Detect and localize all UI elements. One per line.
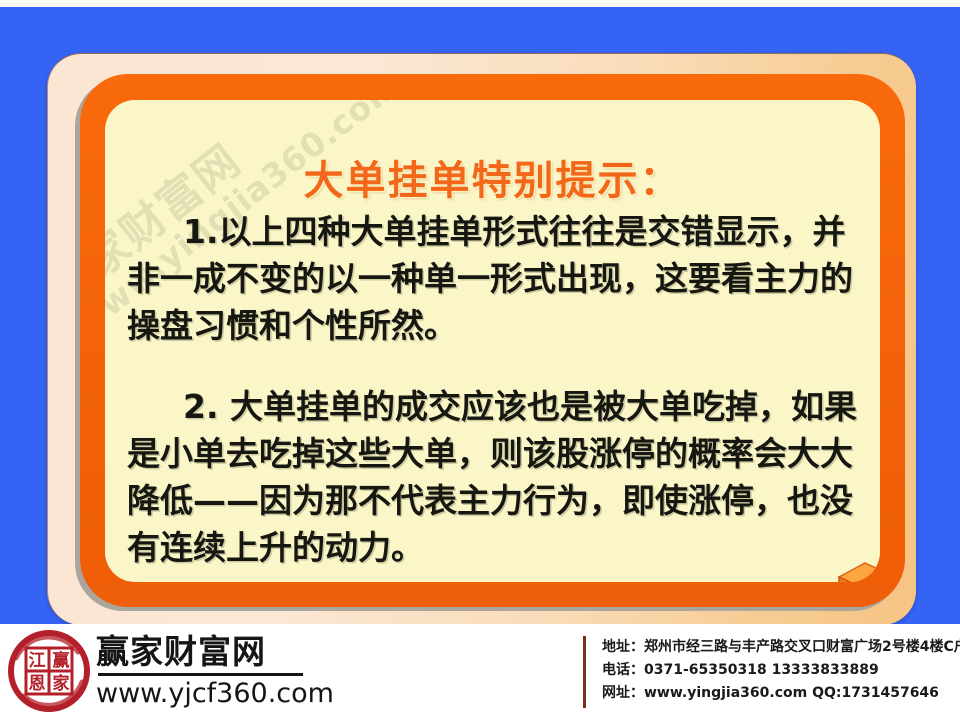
contact-web-value: www.yingjia360.com QQ:1731457646 [644,685,939,701]
brand-block[interactable]: 赢家财富网 www.yjcf360.com [96,632,396,710]
seal-char-3: 恩 [29,674,46,694]
seal-char-1: 江 [29,651,46,671]
page-title: 大单挂单特别提示： [105,148,880,206]
footer-bar: 江 赢 恩 家 赢家财富网 www.yjcf360.com 地址：郑州市经三路与… [0,624,960,720]
footer-vertical-divider [583,636,586,708]
paragraph-1: 1.以上四种大单挂单形式往往是交错显示，并非一成不变的以一种单一形式出现，这要看… [127,208,867,349]
contact-address-line: 地址：郑州市经三路与丰产路交叉口财富广场2号楼4楼C户 [602,636,954,659]
brand-divider-rule [98,673,303,676]
book-globe-icon [821,555,880,582]
contact-block: 地址：郑州市经三路与丰产路交叉口财富广场2号楼4楼C户 电话：0371-6535… [602,636,954,705]
contact-web-label: 网址： [602,685,644,701]
brand-url[interactable]: www.yjcf360.com [96,678,396,710]
content-panel: 赢家财富网 www.yingjia360.com QQ:1731457646 大… [105,100,880,582]
contact-phone-line: 电话：0371-65350318 13333833889 [602,659,954,682]
top-white-strip [0,0,960,7]
contact-address-label: 地址： [602,639,644,655]
seal-char-4: 家 [53,673,70,694]
contact-phone-value: 0371-65350318 13333833889 [644,662,879,678]
paragraph-2: 2. 大单挂单的成交应该也是被大单吃掉，如果是小单去吃掉这些大单，则该股涨停的概… [127,383,867,571]
brand-seal-icon: 江 赢 恩 家 [6,628,92,714]
brand-name: 赢家财富网 [96,632,396,672]
contact-web-line: 网址：www.yingjia360.com QQ:1731457646 [602,682,954,705]
contact-phone-label: 电话： [602,662,644,678]
contact-address-value: 郑州市经三路与丰产路交叉口财富广场2号楼4楼C户 [644,639,960,655]
seal-char-2: 赢 [53,650,70,671]
body-text-block: 1.以上四种大单挂单形式往往是交错显示，并非一成不变的以一种单一形式出现，这要看… [127,208,867,571]
